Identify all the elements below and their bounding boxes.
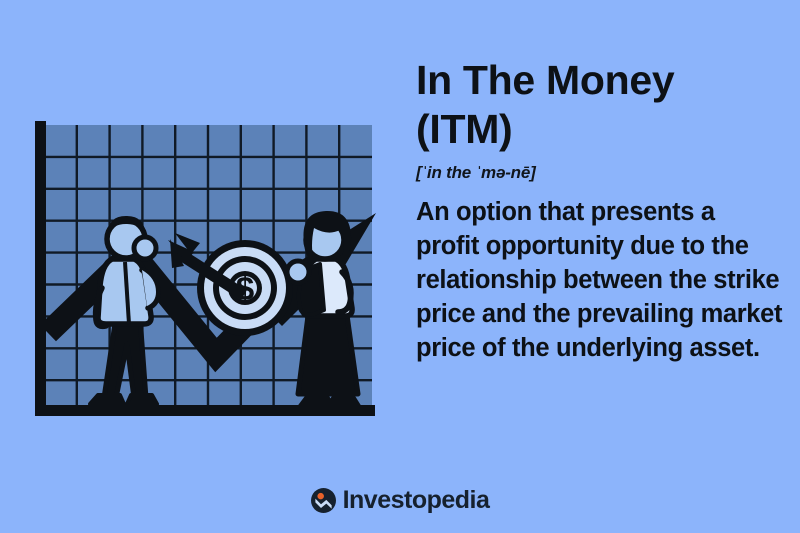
investopedia-logo: Investopedia [0, 488, 800, 513]
term-title: In The Money (ITM) [416, 56, 784, 154]
definition-panel: In The Money (ITM) [ˈin the ˈmə-nē] An o… [416, 56, 784, 365]
infographic-card: $ [0, 0, 800, 533]
chart-illustration: $ [28, 112, 388, 424]
investopedia-wordmark: Investopedia [343, 488, 490, 513]
term-pronunciation: [ˈin the ˈmə-nē] [416, 162, 784, 184]
dollar-target: $ [197, 240, 293, 336]
y-axis [35, 121, 46, 416]
illustration-svg: $ [28, 112, 388, 424]
investopedia-mark-icon [311, 488, 336, 513]
x-axis [35, 405, 375, 416]
term-definition: An option that presents a profit opportu… [416, 195, 784, 365]
